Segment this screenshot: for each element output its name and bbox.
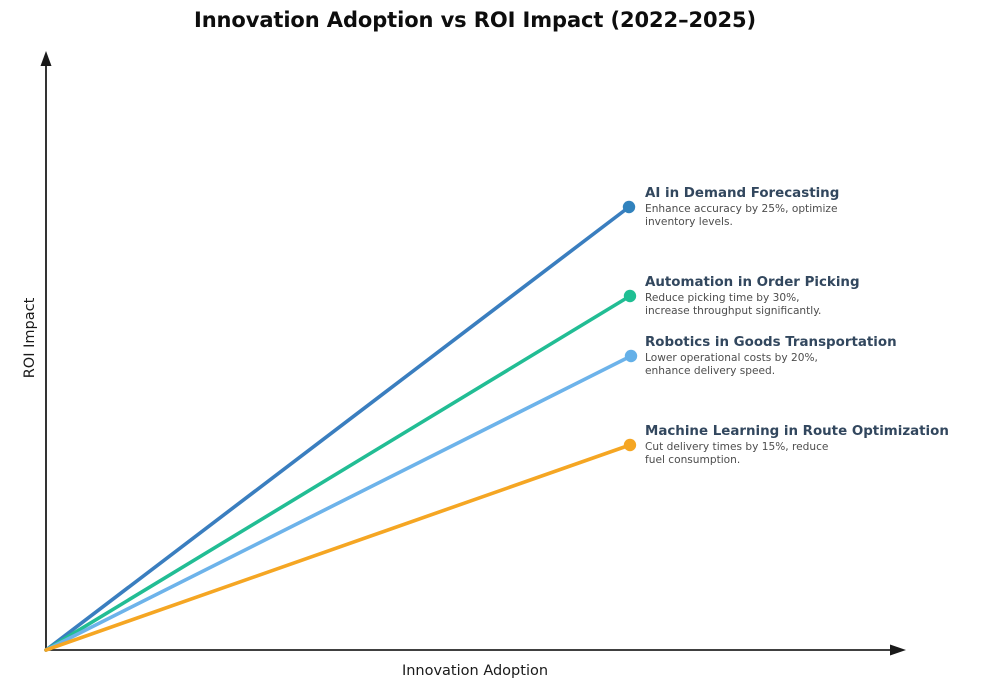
series-annotation-2: Robotics in Goods Transportation Lower o… bbox=[645, 335, 985, 378]
series-endpoint-marker-2[interactable] bbox=[625, 350, 637, 362]
series-lines-group bbox=[46, 207, 631, 650]
series-line-3 bbox=[46, 445, 630, 650]
chart-canvas: Innovation Adoption vs ROI Impact (2022–… bbox=[0, 0, 1000, 700]
series-annotation-title: AI in Demand Forecasting bbox=[645, 186, 985, 202]
series-annotation-title: Machine Learning in Route Optimization bbox=[645, 424, 985, 440]
series-annotation-description: Enhance accuracy by 25%, optimize invent… bbox=[645, 203, 985, 229]
series-endpoint-marker-1[interactable] bbox=[624, 290, 636, 302]
series-annotation-title: Automation in Order Picking bbox=[645, 275, 985, 291]
series-line-1 bbox=[46, 296, 630, 650]
series-line-2 bbox=[46, 356, 631, 650]
x-axis-arrow-icon bbox=[890, 645, 906, 656]
series-annotation-description: Reduce picking time by 30%, increase thr… bbox=[645, 292, 985, 318]
y-axis-arrow-icon bbox=[41, 51, 52, 66]
x-axis-label: Innovation Adoption bbox=[180, 663, 770, 679]
series-annotation-3: Machine Learning in Route Optimization C… bbox=[645, 424, 985, 467]
series-endpoint-marker-3[interactable] bbox=[624, 439, 636, 451]
series-annotation-description: Cut delivery times by 15%, reduce fuel c… bbox=[645, 441, 985, 467]
series-line-0 bbox=[46, 207, 629, 650]
series-annotation-title: Robotics in Goods Transportation bbox=[645, 335, 985, 351]
y-axis-label: ROI Impact bbox=[22, 278, 38, 398]
series-annotation-description: Lower operational costs by 20%, enhance … bbox=[645, 352, 985, 378]
series-annotation-0: AI in Demand Forecasting Enhance accurac… bbox=[645, 186, 985, 229]
series-endpoint-marker-0[interactable] bbox=[623, 201, 635, 213]
series-annotation-1: Automation in Order Picking Reduce picki… bbox=[645, 275, 985, 318]
series-markers-group bbox=[623, 201, 637, 451]
